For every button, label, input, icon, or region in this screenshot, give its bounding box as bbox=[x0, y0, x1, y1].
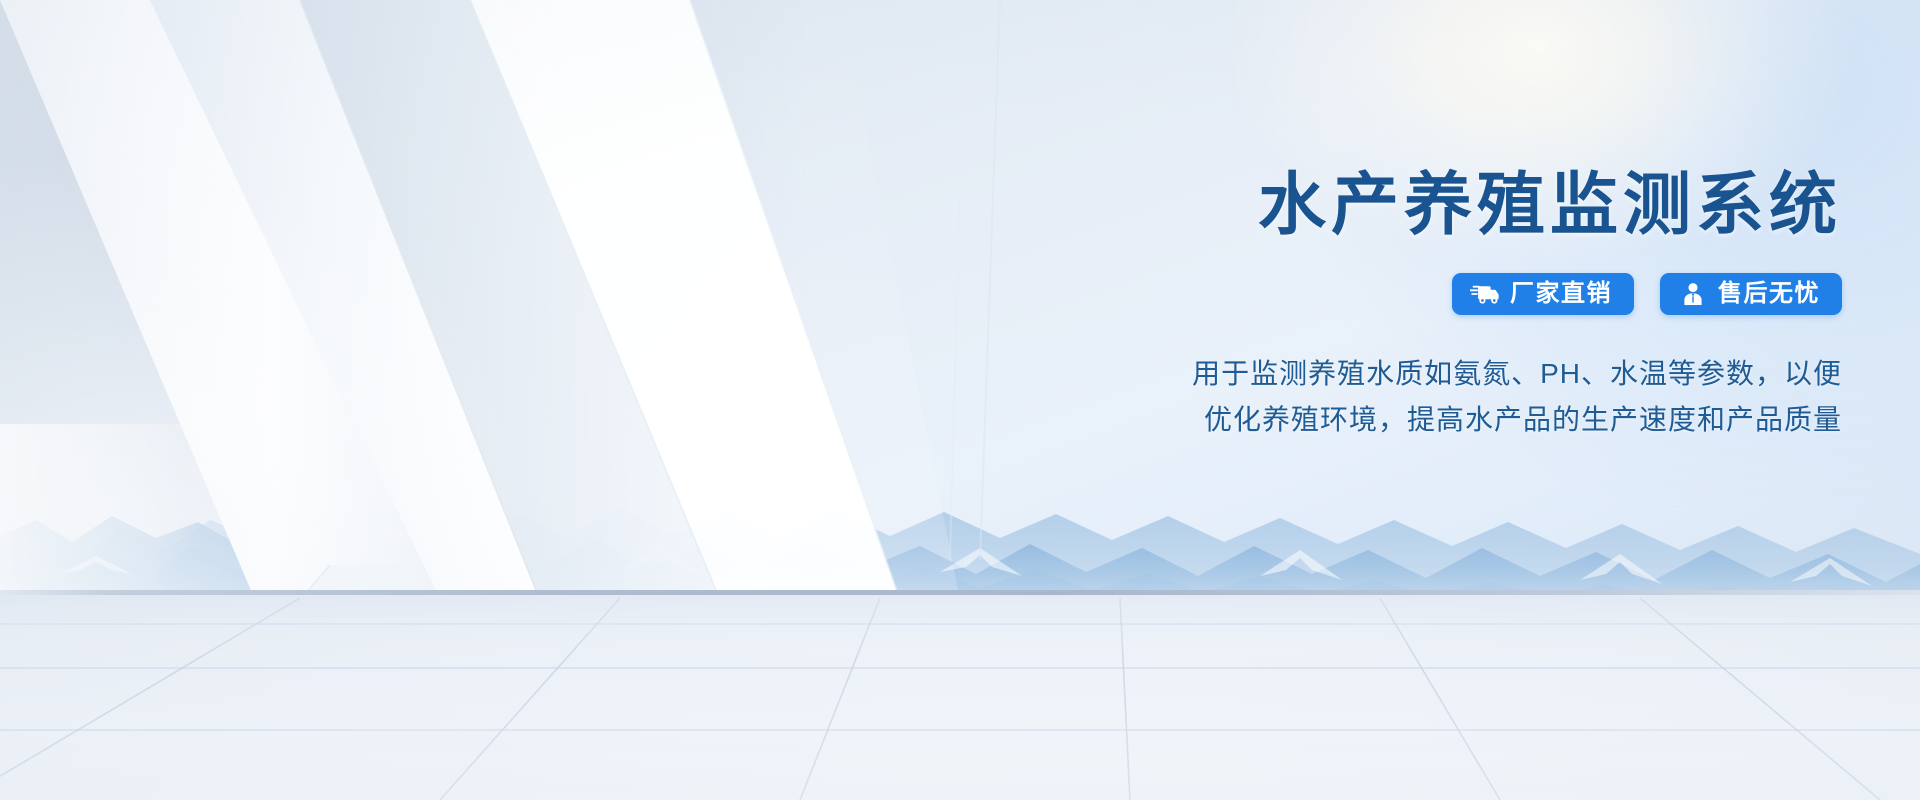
hero-banner: 水产养殖监测系统 厂家直销 bbox=[0, 0, 1920, 800]
description-line-2: 优化养殖环境，提高水产品的生产速度和产品质量 bbox=[842, 397, 1842, 442]
badge-group: 厂家直销 售后无忧 bbox=[842, 273, 1842, 315]
badge-label: 售后无忧 bbox=[1718, 282, 1820, 306]
banner-content: 水产养殖监测系统 厂家直销 bbox=[842, 170, 1842, 442]
badge-after-sales[interactable]: 售后无忧 bbox=[1660, 273, 1842, 315]
support-person-icon bbox=[1678, 281, 1708, 307]
delivery-truck-icon bbox=[1470, 281, 1500, 307]
badge-factory-direct[interactable]: 厂家直销 bbox=[1452, 273, 1634, 315]
badge-label: 厂家直销 bbox=[1510, 282, 1612, 306]
description-line-1: 用于监测养殖水质如氨氮、PH、水温等参数，以便 bbox=[842, 351, 1842, 396]
banner-description: 用于监测养殖水质如氨氮、PH、水温等参数，以便 优化养殖环境，提高水产品的生产速… bbox=[842, 351, 1842, 442]
page-title: 水产养殖监测系统 bbox=[842, 170, 1842, 241]
